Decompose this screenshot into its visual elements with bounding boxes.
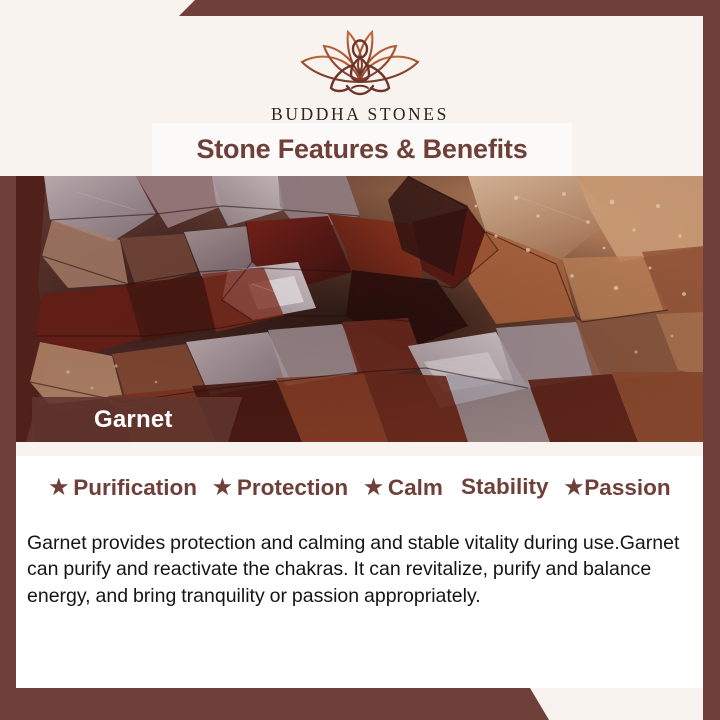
- benefit-label: Purification: [73, 475, 197, 501]
- brand-logo: BUDDHA STONES: [16, 22, 704, 125]
- benefit-item: ★ Calm: [364, 475, 443, 501]
- frame-bottom-bar: [0, 688, 720, 720]
- benefit-item: ★ Protection: [213, 475, 348, 501]
- benefit-label: Calm: [388, 475, 443, 501]
- benefits-list: ★ Purification ★ Protection ★ Calm Stabi…: [16, 474, 704, 501]
- section-title-box: Stone Features & Benefits: [152, 123, 572, 176]
- lotus-meditation-icon: [286, 22, 434, 100]
- benefit-item: ★ Passion: [564, 475, 670, 501]
- stone-name-band: Garnet: [32, 397, 242, 442]
- benefit-label: Stability: [461, 474, 549, 500]
- stone-photo: Garnet: [16, 176, 704, 442]
- star-icon: ★: [213, 477, 232, 498]
- benefit-label: Passion: [584, 475, 670, 501]
- stone-name: Garnet: [32, 406, 173, 434]
- star-icon: ★: [564, 477, 583, 498]
- frame-right-bar: [703, 0, 720, 720]
- brand-name: BUDDHA STONES: [16, 104, 704, 125]
- content-top-fade: [16, 442, 704, 456]
- benefit-item: Stability: [461, 474, 549, 500]
- benefit-item: ★ Purification: [49, 475, 197, 501]
- page-title: Stone Features & Benefits: [196, 134, 527, 165]
- star-icon: ★: [49, 477, 68, 498]
- frame-left-bar: [0, 176, 16, 720]
- stone-description: Garnet provides protection and calming a…: [27, 530, 693, 610]
- benefit-label: Protection: [237, 475, 348, 501]
- content-region: ★ Purification ★ Protection ★ Calm Stabi…: [16, 442, 704, 688]
- stone-feature-card: BUDDHA STONES Stone Features & Benefits: [0, 0, 720, 720]
- star-icon: ★: [364, 477, 383, 498]
